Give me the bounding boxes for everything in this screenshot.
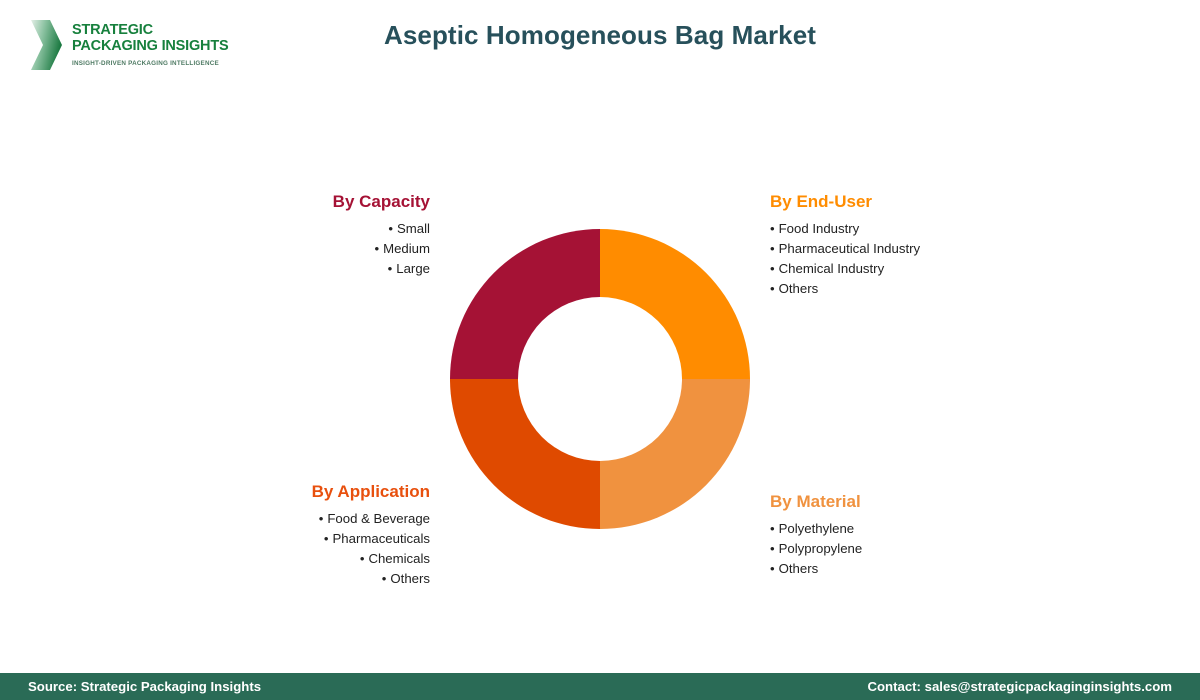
segment-title-by-capacity: By Capacity	[230, 193, 430, 212]
footer-source: Source: Strategic Packaging Insights	[28, 679, 261, 694]
list-item-label: Pharmaceuticals	[333, 531, 430, 546]
bullet-icon: •	[770, 261, 775, 276]
list-item: •Chemical Industry	[770, 259, 1030, 279]
donut-hole	[518, 297, 682, 461]
list-item: •Others	[230, 569, 430, 589]
list-item-label: Others	[779, 561, 819, 576]
list-item-label: Food Industry	[779, 221, 860, 236]
segment-title-by-application: By Application	[230, 483, 430, 502]
list-item-label: Polyethylene	[779, 521, 855, 536]
bullet-icon: •	[388, 261, 393, 276]
segment-by-end-user: By End-User •Food Industry •Pharmaceutic…	[770, 193, 1030, 299]
list-item: •Large	[230, 259, 430, 279]
bullet-icon: •	[770, 561, 775, 576]
bullet-icon: •	[382, 571, 387, 586]
segment-by-material: By Material •Polyethylene •Polypropylene…	[770, 493, 1010, 579]
list-item: •Chemicals	[230, 549, 430, 569]
list-item-label: Medium	[383, 241, 430, 256]
list-item: •Food & Beverage	[230, 509, 430, 529]
segment-by-capacity: By Capacity •Small •Medium •Large	[230, 193, 430, 279]
bullet-icon: •	[770, 281, 775, 296]
list-item: •Pharmaceuticals	[230, 529, 430, 549]
segment-list-by-capacity: •Small •Medium •Large	[230, 219, 430, 279]
list-item-label: Small	[397, 221, 430, 236]
list-item-label: Polypropylene	[779, 541, 863, 556]
bullet-icon: •	[770, 241, 775, 256]
poster-canvas: STRATEGIC PACKAGING INSIGHTS INSIGHT-DRI…	[0, 0, 1200, 700]
footer-bar: Source: Strategic Packaging Insights Con…	[0, 673, 1200, 700]
list-item-label: Others	[390, 571, 430, 586]
bullet-icon: •	[374, 241, 379, 256]
bullet-icon: •	[770, 221, 775, 236]
list-item-label: Food & Beverage	[327, 511, 430, 526]
list-item: •Polypropylene	[770, 539, 1010, 559]
list-item: •Polyethylene	[770, 519, 1010, 539]
list-item: •Small	[230, 219, 430, 239]
donut-chart	[450, 229, 750, 529]
list-item: •Others	[770, 279, 1030, 299]
bullet-icon: •	[388, 221, 393, 236]
list-item: •Food Industry	[770, 219, 1030, 239]
list-item-label: Chemical Industry	[779, 261, 885, 276]
segment-list-by-material: •Polyethylene •Polypropylene •Others	[770, 519, 1010, 579]
segment-list-by-end-user: •Food Industry •Pharmaceutical Industry …	[770, 219, 1030, 299]
segment-title-by-end-user: By End-User	[770, 193, 1030, 212]
list-item: •Others	[770, 559, 1010, 579]
footer-contact[interactable]: Contact: sales@strategicpackaginginsight…	[867, 679, 1172, 694]
list-item-label: Pharmaceutical Industry	[779, 241, 920, 256]
donut-chart-svg	[450, 229, 750, 529]
list-item: •Medium	[230, 239, 430, 259]
list-item-label: Chemicals	[368, 551, 430, 566]
bullet-icon: •	[770, 521, 775, 536]
bullet-icon: •	[324, 531, 329, 546]
list-item-label: Others	[779, 281, 819, 296]
segment-list-by-application: •Food & Beverage •Pharmaceuticals •Chemi…	[230, 509, 430, 589]
list-item-label: Large	[396, 261, 430, 276]
list-item: •Pharmaceutical Industry	[770, 239, 1030, 259]
segment-title-by-material: By Material	[770, 493, 1010, 512]
bullet-icon: •	[319, 511, 324, 526]
logo-tagline: INSIGHT-DRIVEN PACKAGING INTELLIGENCE	[72, 60, 228, 67]
segment-by-application: By Application •Food & Beverage •Pharmac…	[230, 483, 430, 589]
page-title: Aseptic Homogeneous Bag Market	[0, 20, 1200, 51]
bullet-icon: •	[770, 541, 775, 556]
bullet-icon: •	[360, 551, 365, 566]
